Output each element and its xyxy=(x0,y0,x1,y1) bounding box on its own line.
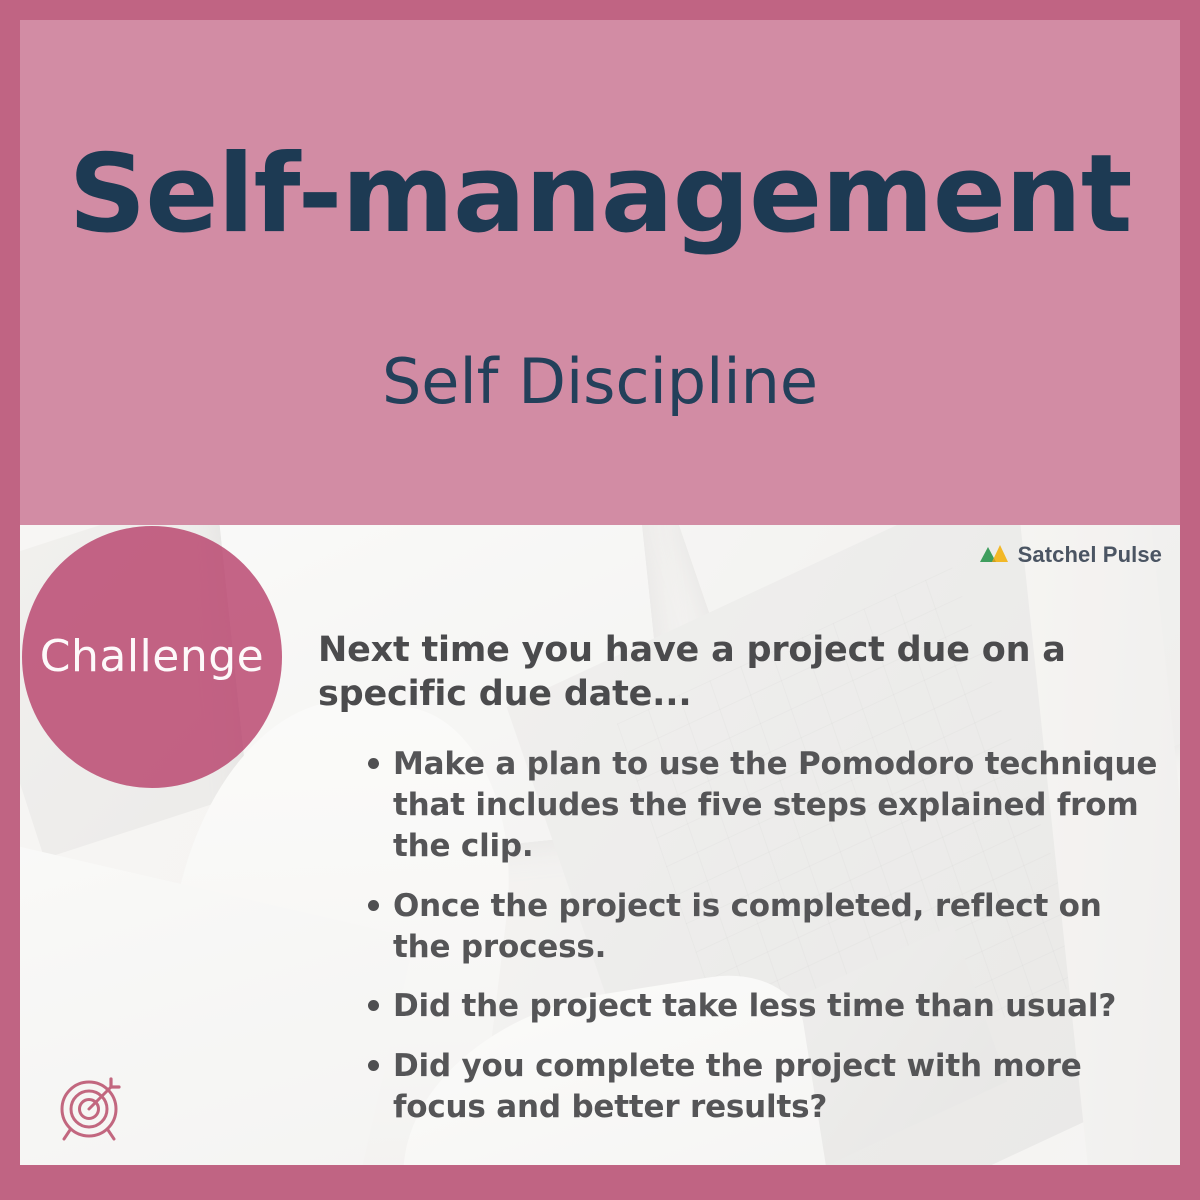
list-item: Make a plan to use the Pomodoro techniqu… xyxy=(318,744,1163,867)
brand-logo-text: Satchel Pulse xyxy=(1018,542,1162,568)
brand-logo: Satchel Pulse xyxy=(979,542,1162,568)
mountains-icon xyxy=(979,543,1009,567)
list-item: Did you complete the project with more f… xyxy=(318,1046,1163,1128)
challenge-badge-label: Challenge xyxy=(40,635,264,679)
target-bullseye-icon xyxy=(53,1069,129,1145)
challenge-panel: Challenge Satchel Pulse xyxy=(20,525,1180,1165)
list-item: Once the project is completed, reflect o… xyxy=(318,886,1163,968)
page-subtitle: Self Discipline xyxy=(20,348,1180,416)
list-item: Did the project take less time than usua… xyxy=(318,986,1163,1027)
page-title: Self-management xyxy=(20,138,1180,251)
challenge-bullet-list: Make a plan to use the Pomodoro techniqu… xyxy=(318,744,1163,1128)
header-band: Self-management Self Discipline xyxy=(20,20,1180,525)
challenge-lead-text: Next time you have a project due on a sp… xyxy=(318,628,1078,717)
challenge-content: Next time you have a project due on a sp… xyxy=(318,628,1163,1147)
slide-card: Self-management Self Discipline Challeng… xyxy=(0,0,1200,1200)
challenge-badge: Challenge xyxy=(22,526,282,788)
